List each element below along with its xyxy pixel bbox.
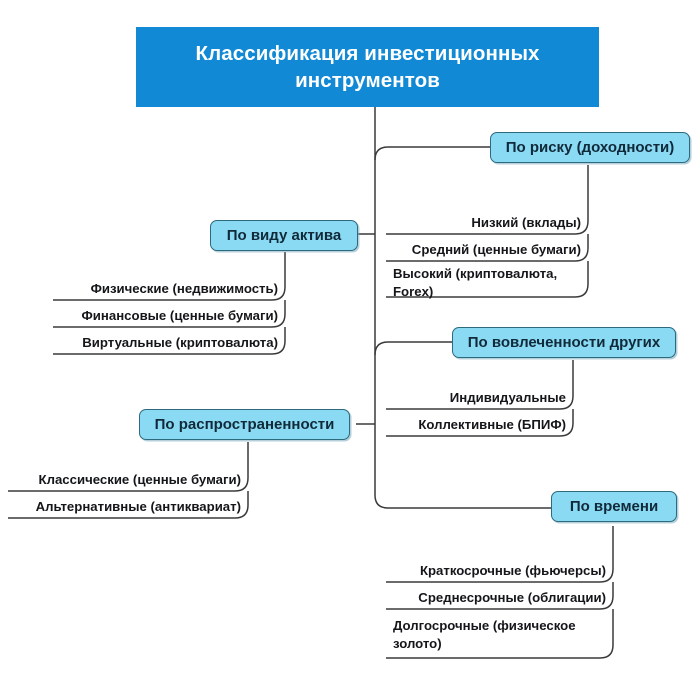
leaf-label: Физические (недвижимость)	[91, 280, 278, 298]
leaf-label: Виртуальные (криптовалюта)	[82, 334, 278, 352]
branch-node-prevalence-label: По распространенности	[155, 416, 335, 433]
leaf-label: Средний (ценные бумаги)	[412, 241, 581, 259]
leaf-label: Высокий (криптовалюта, Forex)	[393, 265, 581, 301]
diagram-title-box: Классификация инвестиционных инструменто…	[136, 27, 599, 107]
page-title: Классификация инвестиционных инструменто…	[166, 40, 569, 94]
leaf-label: Коллективные (БПИФ)	[418, 416, 566, 434]
leaf-item: Долгосрочные (физическое золото)	[386, 614, 613, 654]
leaf-item: Краткосрочные (фьючерсы)	[386, 562, 613, 582]
branch-node-asset-type[interactable]: По виду актива	[210, 220, 358, 251]
leaf-label: Краткосрочные (фьючерсы)	[420, 562, 606, 580]
leaf-label: Среднесрочные (облигации)	[418, 589, 606, 607]
branch-node-involvement-label: По вовлеченности других	[468, 334, 660, 351]
leaf-item: Индивидуальные	[386, 389, 573, 409]
leaf-label: Альтернативные (антиквариат)	[36, 498, 241, 516]
leaf-item: Среднесрочные (облигации)	[386, 589, 613, 609]
branch-node-time[interactable]: По времени	[551, 491, 677, 522]
mindmap-diagram: Классификация инвестиционных инструменто…	[0, 0, 700, 677]
leaf-label: Низкий (вклады)	[471, 214, 581, 232]
leaf-label: Классические (ценные бумаги)	[39, 471, 241, 489]
leaf-item: Средний (ценные бумаги)	[386, 241, 588, 261]
leaf-item: Коллективные (БПИФ)	[386, 416, 573, 436]
leaf-item: Физические (недвижимость)	[53, 280, 285, 300]
leaf-item: Альтернативные (антиквариат)	[8, 498, 248, 518]
leaf-item: Виртуальные (криптовалюта)	[53, 334, 285, 354]
branch-node-prevalence[interactable]: По распространенности	[139, 409, 350, 440]
leaf-item: Финансовые (ценные бумаги)	[53, 307, 285, 327]
branch-node-involvement[interactable]: По вовлеченности других	[452, 327, 676, 358]
branch-node-risk[interactable]: По риску (доходности)	[490, 132, 690, 163]
branch-node-asset-type-label: По виду актива	[227, 227, 342, 244]
leaf-label: Индивидуальные	[450, 389, 566, 407]
branch-node-risk-label: По риску (доходности)	[506, 139, 675, 156]
leaf-item: Высокий (криптовалюта, Forex)	[386, 262, 588, 297]
leaf-item: Классические (ценные бумаги)	[8, 471, 248, 491]
branch-node-time-label: По времени	[570, 498, 658, 515]
leaf-label: Долгосрочные (физическое золото)	[393, 617, 606, 653]
leaf-label: Финансовые (ценные бумаги)	[82, 307, 278, 325]
leaf-item: Низкий (вклады)	[386, 214, 588, 234]
